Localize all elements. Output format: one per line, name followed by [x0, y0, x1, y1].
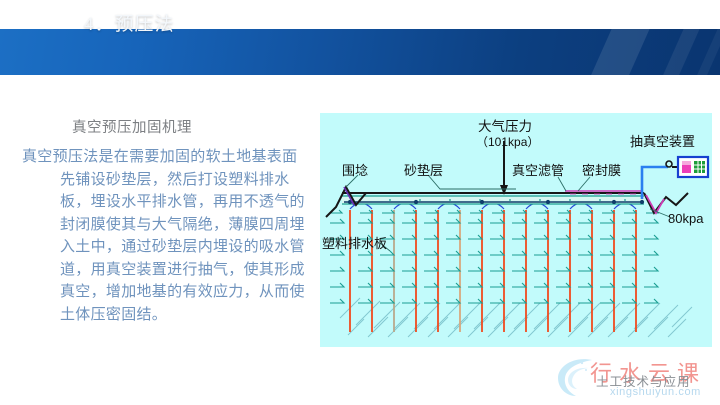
watermark-url: xingshuiyun.com: [610, 386, 701, 398]
label-sand-cushion: 砂垫层: [404, 163, 443, 178]
body-paragraph: 真空预压法是在需要加固的软土地基表面 先铺设砂垫层，然后打设塑料排水 板，埋设水…: [22, 146, 322, 326]
paragraph-line: 封闭膜使其与大气隔绝，薄膜四周埋: [22, 214, 322, 237]
label-vacuum-pressure: 80kpa: [668, 211, 704, 226]
paragraph-line: 入土中，通过砂垫层内埋设的吸水管: [22, 236, 322, 259]
page-title: 4．预压法: [84, 9, 175, 36]
sand-cushion-layer: [342, 196, 644, 204]
label-atmospheric-pressure: 大气压力: [478, 119, 532, 134]
watermark: 行水云课 土工技术与应用 xingshuiyun.com: [548, 352, 716, 402]
label-embankment: 围埝: [342, 163, 368, 178]
diagram-svg: 大气压力 （101kpa） 围埝 砂垫层 真空滤管 密封膜 抽真空装置 80kp…: [320, 113, 712, 347]
label-plastic-drain-board: 塑料排水板: [322, 236, 387, 251]
label-sealing-membrane: 密封膜: [582, 163, 621, 178]
paragraph-line: 真空，增加地基的有效应力，从而使: [22, 281, 322, 304]
label-atmospheric-pressure-value: （101kpa）: [476, 135, 539, 149]
text-column: 真空预压加固机理 真空预压法是在需要加固的软土地基表面 先铺设砂垫层，然后打设塑…: [22, 116, 322, 326]
paragraph-line: 土体压密固结。: [22, 304, 322, 327]
label-vacuum-filter-pipe: 真空滤管: [512, 163, 564, 178]
vacuum-preloading-diagram: 大气压力 （101kpa） 围埝 砂垫层 真空滤管 密封膜 抽真空装置 80kp…: [320, 113, 712, 347]
vacuum-pump-device: [678, 157, 708, 177]
paragraph-line: 真空预压法是在需要加固的软土地基表面: [22, 146, 322, 169]
header-stripe-decoration: [572, 29, 659, 75]
paragraph-line: 板，埋设水平排水管，再用不透气的: [22, 191, 322, 214]
label-vacuum-device: 抽真空装置: [630, 134, 695, 149]
paragraph-line: 道，用真空装置进行抽气，使其形成: [22, 259, 322, 282]
paragraph-line: 先铺设砂垫层，然后打设塑料排水: [22, 169, 322, 192]
section-subheading: 真空预压加固机理: [72, 116, 322, 137]
